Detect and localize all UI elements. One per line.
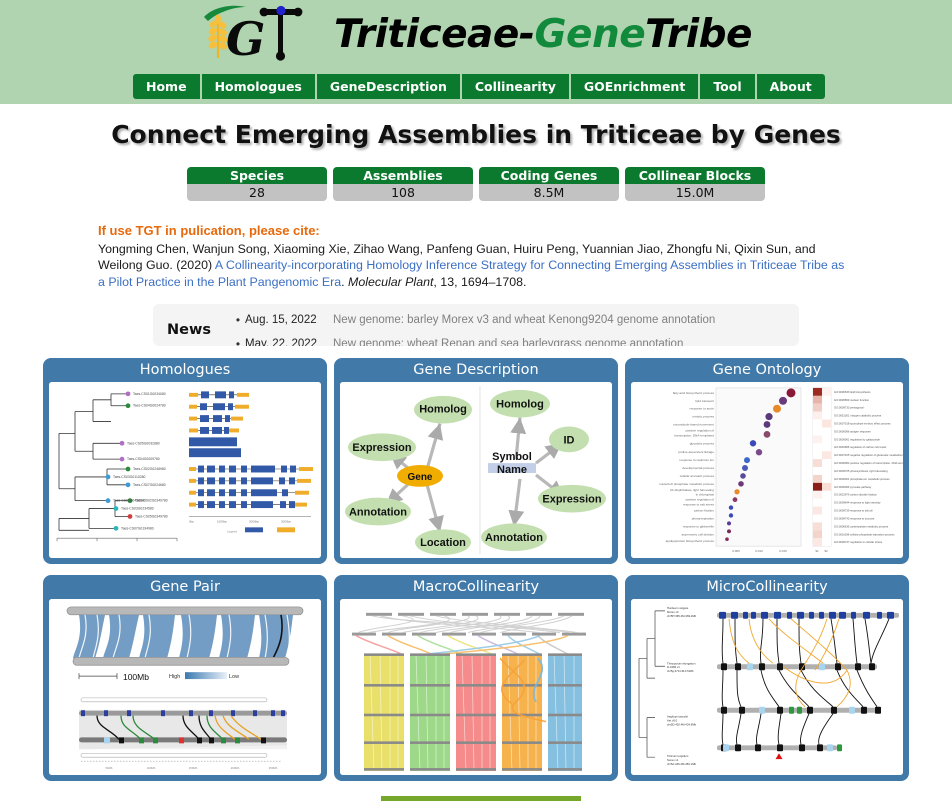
svg-text:Homolog: Homolog [419, 404, 467, 416]
svg-text:3000bp: 3000bp [281, 519, 291, 523]
svg-text:Legend: Legend [227, 529, 237, 533]
svg-text:Taes-CS05G0349780: Taes-CS05G0349780 [135, 514, 168, 518]
svg-text:lipid transport: lipid transport [695, 399, 714, 403]
svg-text:GO:0006096 pyruvate pathway: GO:0006096 pyruvate pathway [834, 485, 872, 489]
card-title: Homologues [45, 360, 325, 382]
svg-text:GO:0009737 regulation to cellu: GO:0009737 regulation to cellular stress [834, 540, 883, 544]
svg-text:Annotation: Annotation [349, 507, 407, 519]
footer-accent-bar [381, 796, 581, 801]
card-preview-microcollinearity: Hordeum vulgareMorex v3chr5H:365.2M-369.… [631, 599, 903, 775]
svg-text:0.015: 0.015 [779, 549, 787, 553]
card-title: Gene Ontology [627, 360, 907, 382]
svg-text:Annotation: Annotation [485, 532, 543, 544]
nav-item-home[interactable]: Home [133, 74, 200, 99]
svg-text:response to salt stress: response to salt stress [683, 503, 714, 507]
go-enrichment-dotplot-icon: fatty acid biosynthetic process lipid tr… [631, 382, 903, 558]
citation-heading: If use TGT in pulication, please cite: [98, 223, 854, 240]
svg-text:Taes-CS04G0024780: Taes-CS04G0024780 [133, 404, 166, 408]
svg-text:positive regulation of: positive regulation of [686, 428, 715, 432]
svg-text:G: G [226, 12, 265, 65]
svg-text:GO:0006635 carbohydrate metabo: GO:0006635 carbohydrate metabolic proces… [834, 524, 889, 528]
stat-collinear-blocks: Collinear Blocks 15.0M [625, 167, 765, 201]
svg-text:High: High [169, 674, 180, 680]
card-gene-description[interactable]: Gene Description [334, 358, 618, 564]
gene-attribute-graph-icon: Homolog Expression Annotation Location G… [340, 382, 612, 558]
svg-text:response to gibberellin: response to gibberellin [683, 524, 714, 528]
news-text: New genome: wheat Renan and sea barleygr… [333, 336, 683, 346]
svg-text:positive regulation of: positive regulation of [686, 498, 715, 502]
svg-text:150Mb: 150Mb [189, 766, 198, 770]
nav-item-genedescription[interactable]: GeneDescription [317, 74, 460, 99]
news-item[interactable]: • Aug. 15, 2022 New genome: barley Morex… [231, 312, 799, 328]
card-gene-pair[interactable]: Gene Pair [43, 575, 327, 781]
svg-text:response to auxin: response to auxin [690, 407, 715, 411]
svg-text:Homolog: Homolog [496, 399, 544, 411]
svg-text:1000bp: 1000bp [217, 519, 227, 523]
stat-label: Collinear Blocks [625, 167, 765, 184]
svg-text:GO:0000001 phosphate-ion metab: GO:0000001 phosphate-ion metabolic proce… [834, 477, 890, 481]
svg-text:photorespiration: photorespiration [692, 516, 714, 520]
svg-text:0bp: 0bp [189, 519, 194, 523]
stat-label: Coding Genes [479, 167, 619, 184]
svg-text:GO:0009743 response to sucrose: GO:0009743 response to sucrose [834, 516, 875, 520]
news-date: May. 22, 2022 [245, 336, 333, 346]
news-title: News [167, 312, 231, 338]
stat-value: 15.0M [625, 184, 765, 201]
news-item[interactable]: • May. 22, 2022 New genome: wheat Renan … [231, 336, 799, 346]
svg-text:GO:0007165 negative regulation: GO:0007165 negative regulation of glutam… [834, 453, 903, 457]
svg-text:50Mb: 50Mb [106, 766, 113, 770]
citation-body: Yongming Chen, Wanjun Song, Xiaoming Xie… [98, 241, 854, 291]
citation-block: If use TGT in pulication, please cite: Y… [0, 223, 952, 290]
stat-value: 28 [187, 184, 327, 201]
svg-text:chr5A:446.2M-450.1Mb: chr5A:446.2M-450.1Mb [667, 762, 697, 766]
svg-text:apolipoprotein biosynthetic pr: apolipoprotein biosynthetic process [666, 539, 715, 543]
svg-text:carbon fixation: carbon fixation [694, 509, 714, 513]
svg-text:glycolytic process: glycolytic process [690, 441, 715, 445]
svg-text:Expression: Expression [352, 442, 411, 454]
stat-assemblies: Assemblies 108 [333, 167, 473, 201]
svg-text:S2: S2 [824, 549, 828, 553]
svg-text:Expression: Expression [542, 494, 601, 506]
stat-coding-genes: Coding Genes 8.5M [479, 167, 619, 201]
svg-text:GO:0009765 photosynthesis, lig: GO:0009765 photosynthesis, light harvest… [834, 469, 888, 473]
brand-title: Triticeae-GeneTribe [334, 12, 752, 57]
card-macrocollinearity[interactable]: MacroCollinearity [334, 575, 618, 781]
main-navigation: Home Homologues GeneDescription Collinea… [133, 74, 825, 99]
nav-item-about[interactable]: About [757, 74, 825, 99]
svg-text:S1: S1 [815, 549, 819, 553]
brand-logo-group[interactable]: G Triticeae-GeneTribe [0, 2, 952, 66]
stat-label: Assemblies [333, 167, 473, 184]
synteny-ribbon-icon: 100Mb High Low [49, 599, 321, 775]
svg-text:asymmetric cell division: asymmetric cell division [681, 532, 714, 536]
svg-text:100Mb: 100Mb [147, 766, 156, 770]
svg-text:GO:0015979 carbon dioxide fixa: GO:0015979 carbon dioxide fixation [834, 493, 877, 497]
stat-value: 108 [333, 184, 473, 201]
svg-text:0.005: 0.005 [732, 549, 740, 553]
bullet-icon: • [231, 336, 245, 346]
svg-text:developmental process: developmental process [682, 466, 714, 470]
svg-text:Taes-CS04G0009780: Taes-CS04G0009780 [127, 457, 160, 461]
svg-text:250Mb: 250Mb [269, 766, 278, 770]
svg-text:GO:0006869 nuclear function: GO:0006869 nuclear function [834, 398, 870, 402]
svg-text:Location: Location [420, 537, 466, 549]
svg-text:chr5H:365.2M-369.2Mb: chr5H:365.2M-369.2Mb [667, 614, 697, 618]
news-text: New genome: barley Morex v3 and wheat Ke… [333, 312, 715, 328]
card-title: MicroCollinearity [627, 577, 907, 599]
card-title: Gene Description [336, 360, 616, 382]
nav-item-homologues[interactable]: Homologues [202, 74, 315, 99]
page-title: Connect Emerging Assemblies in Triticeae… [0, 120, 952, 149]
svg-text:response to cadmium ion: response to cadmium ion [679, 458, 714, 462]
svg-text:meiotic process: meiotic process [692, 415, 714, 419]
stat-species: Species 28 [187, 167, 327, 201]
svg-text:GO:0009061 regulation by galac: GO:0009061 regulation by galactoside [834, 437, 880, 441]
card-microcollinearity[interactable]: MicroCollinearity Hordeum vulgareMorex v… [625, 575, 909, 781]
macro-collinearity-icon [340, 599, 612, 775]
svg-text:nucleoli-D phosphate metabolic: nucleoli-D phosphate metabolic process [659, 482, 714, 486]
site-header: G Triticeae-GeneTribe Home Homologues Ge… [0, 0, 952, 104]
gene-pair-scale-label: 100Mb [123, 672, 149, 682]
svg-text:0.010: 0.010 [755, 549, 763, 553]
nav-item-goenrichment[interactable]: GOEnrichment [571, 74, 698, 99]
svg-text:Taes-CS02G0340780: Taes-CS02G0340780 [135, 499, 168, 503]
news-list: • Aug. 15, 2022 New genome: barley Morex… [231, 312, 799, 346]
stats-bar: Species 28 Assemblies 108 Coding Genes 8… [176, 167, 776, 201]
svg-text:microtubule-based movement: microtubule-based movement [673, 423, 714, 427]
bullet-icon: • [231, 312, 245, 328]
card-preview-gene-pair: 100Mb High Low [49, 599, 321, 775]
wheat-tgt-logo-icon: G [200, 3, 320, 65]
svg-text:GO:0009739 response to stimuli: GO:0009739 response to stimuli [834, 509, 873, 513]
svg-text:Taes-CS02G0248980: Taes-CS02G0248980 [133, 467, 166, 471]
svg-text:200Mb: 200Mb [231, 766, 240, 770]
micro-collinearity-icon: Hordeum vulgareMorex v3chr5H:365.2M-369.… [631, 599, 903, 775]
svg-text:GO:0006082 positive regulation: GO:0006082 positive regulation of transc… [834, 461, 903, 465]
card-homologues[interactable]: Homologues [43, 358, 327, 564]
svg-text:GO:0016036 cellular phosphate: GO:0016036 cellular phosphate starvation… [834, 532, 895, 536]
card-preview-homologues: Taes-CS01G0034080Taes-CS04G0024780 Taes-… [49, 382, 321, 558]
svg-text:Taes-CS05G0032880: Taes-CS05G0032880 [127, 441, 160, 445]
svg-text:Taes-CS01G0034080: Taes-CS01G0034080 [133, 392, 166, 396]
svg-text:2A-bisphthalate, light harvest: 2A-bisphthalate, light harvesting [670, 488, 714, 492]
svg-text:Taes-CS03G0234580: Taes-CS03G0234580 [121, 507, 154, 511]
nav-item-tool[interactable]: Tool [700, 74, 754, 99]
svg-text:fatty acid biosynthetic proces: fatty acid biosynthetic process [673, 391, 715, 395]
svg-text:2000bp: 2000bp [249, 519, 259, 523]
card-preview-gene-description: Homolog Expression Annotation Location G… [340, 382, 612, 558]
svg-text:chr5g:470.1M-474Mb: chr5g:470.1M-474Mb [667, 669, 694, 673]
card-preview-macrocollinearity [340, 599, 612, 775]
citation-volume-pages: , 13, 1694–1708. [433, 275, 526, 289]
svg-text:GO:0006633 lipid biosynthesis: GO:0006633 lipid biosynthesis [834, 390, 871, 394]
svg-text:Taes-CS07G0024680: Taes-CS07G0024680 [133, 483, 166, 487]
svg-text:Name: Name [497, 464, 527, 476]
citation-journal: Molecular Plant [348, 275, 433, 289]
svg-text:Taes-CS07G0194980: Taes-CS07G0194980 [121, 526, 154, 530]
svg-text:ID: ID [564, 434, 575, 446]
card-title: MacroCollinearity [336, 577, 616, 599]
svg-text:GO:0007018 sporophyte embryo e: GO:0007018 sporophyte embryo effect proc… [834, 422, 891, 426]
citation-period: . [341, 275, 348, 289]
svg-text:GO:0046686 regulation of carbo: GO:0046686 regulation of carbon cell rep… [834, 445, 886, 449]
stat-value: 8.5M [479, 184, 619, 201]
svg-text:cellular aromatic process: cellular aromatic process [680, 474, 715, 478]
svg-text:Low: Low [229, 674, 239, 680]
nav-item-collinearity[interactable]: Collinearity [462, 74, 569, 99]
blue-dot-icon [276, 6, 285, 15]
svg-text:Symbol: Symbol [492, 451, 532, 463]
svg-text:proline-dependent linkage: proline-dependent linkage [678, 450, 714, 454]
news-date: Aug. 15, 2022 [245, 312, 333, 328]
svg-text:GO:0009733 pentagonal ·: GO:0009733 pentagonal · [834, 406, 865, 410]
svg-text:in chloroplast: in chloroplast [696, 493, 714, 497]
svg-text:Taes-CS03G0110280: Taes-CS03G0110280 [113, 475, 146, 479]
feature-card-grid: Homologues [31, 358, 921, 781]
card-preview-gene-ontology: fatty acid biosynthetic process lipid tr… [631, 382, 903, 558]
svg-text:GO:0051301 mitogen catabolic p: GO:0051301 mitogen catabolic process [834, 414, 882, 418]
card-title: Gene Pair [45, 577, 325, 599]
svg-text:GO:0009644 response to light i: GO:0009644 response to light intensity [834, 501, 881, 505]
svg-text:Gene: Gene [408, 472, 433, 483]
news-panel: News • Aug. 15, 2022 New genome: barley … [153, 304, 799, 346]
card-gene-ontology[interactable]: Gene Ontology fatty acid biosynthetic pr… [625, 358, 909, 564]
svg-text:GO:0006096 antigen response: GO:0006096 antigen response [834, 429, 871, 433]
phylogenetic-tree-preview-icon: Taes-CS01G0034080Taes-CS04G0024780 Taes-… [49, 382, 321, 558]
svg-text:transcription, DNA-templated: transcription, DNA-templated [674, 433, 714, 437]
stat-label: Species [187, 167, 327, 184]
svg-text:chr5D:420.4M-424.6Mb: chr5D:420.4M-424.6Mb [667, 723, 697, 727]
